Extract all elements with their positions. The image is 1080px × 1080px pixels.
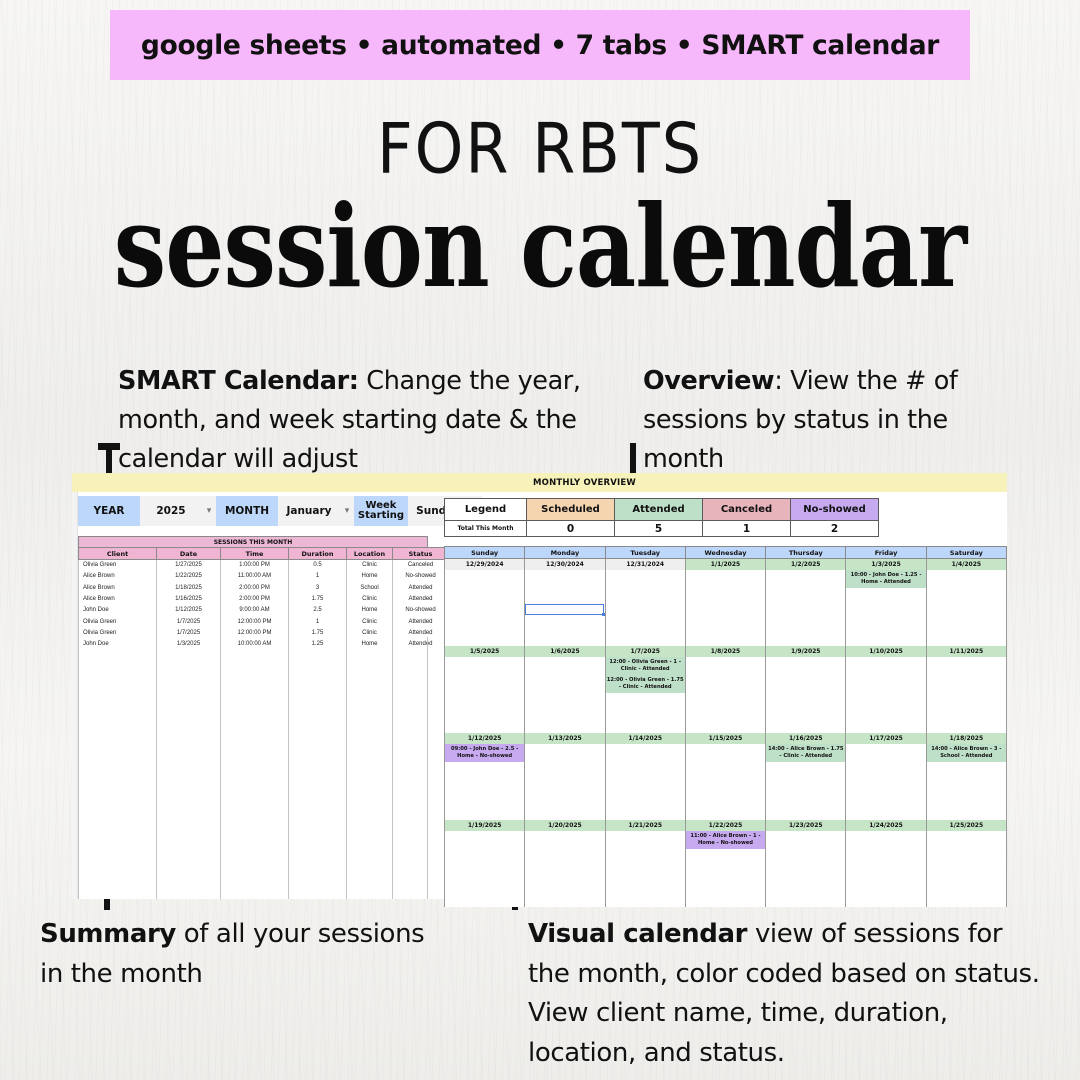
sessions-cell-client: Alice Brown: [79, 593, 157, 604]
calendar-day-cell[interactable]: 12/31/2024: [605, 559, 685, 646]
sessions-cell-status: No-showed: [393, 605, 449, 616]
sessions-cell-duration: 3: [289, 582, 347, 593]
calendar-day-cell[interactable]: 1/17/2025: [846, 733, 926, 820]
calendar-day-cell[interactable]: 1/3/202510:00 - John Doe - 1.25 - Home -…: [846, 559, 926, 646]
week-starting-label-cell: Week Starting: [354, 496, 408, 526]
calendar-day-cell[interactable]: 1/2/2025: [766, 559, 846, 646]
calendar-day-date: 1/6/2025: [525, 646, 604, 657]
calendar-day-date: 12/29/2024: [445, 559, 524, 570]
calendar-day-date: 1/21/2025: [606, 820, 685, 831]
calendar-day-date: 1/24/2025: [846, 820, 925, 831]
calendar-day-date: 1/14/2025: [606, 733, 685, 744]
calendar-day-date: 1/9/2025: [766, 646, 845, 657]
legend-status-scheduled: Scheduled: [527, 499, 615, 521]
calendar-day-date: 12/31/2024: [606, 559, 685, 570]
calendar-day-date: 1/15/2025: [686, 733, 765, 744]
calendar-day-header-saturday: Saturday: [926, 547, 1006, 559]
annotation-visual-bold: Visual calendar: [528, 919, 747, 949]
calendar-day-cell[interactable]: 1/5/2025: [445, 646, 525, 733]
calendar-day-cell[interactable]: 12/29/2024: [445, 559, 525, 646]
sessions-cell-time: 2:00:00 PM: [221, 582, 289, 593]
month-label-cell: MONTH: [216, 496, 278, 526]
legend-total-scheduled: 0: [527, 521, 615, 537]
calendar-week-row: 1/5/20251/6/20251/7/202512:00 - Olivia G…: [445, 646, 1007, 733]
calendar-day-cell[interactable]: 1/16/202514:00 - Alice Brown - 1.75 - Cl…: [766, 733, 846, 820]
annotation-smart-calendar: SMART Calendar: Change the year, month, …: [118, 362, 638, 478]
sessions-cell-date: 1/22/2025: [157, 571, 221, 582]
sessions-table-row: Olivia Green1/7/202512:00:00 PM1ClinicAt…: [79, 616, 449, 627]
sessions-cell-status: Attended: [393, 582, 449, 593]
calendar-day-cell[interactable]: 1/6/2025: [525, 646, 605, 733]
sessions-cell-time: 9:00:00 AM: [221, 605, 289, 616]
calendar-week-row: 1/12/202509:00 - John Doe - 2.5 - Home -…: [445, 733, 1007, 820]
calendar-day-date: 1/7/2025: [606, 646, 685, 657]
sessions-cell-time: 12:00:00 PM: [221, 616, 289, 627]
sessions-col-header-location: Location: [347, 548, 393, 560]
calendar-day-date: 1/17/2025: [846, 733, 925, 744]
selected-cell-outline[interactable]: [525, 604, 604, 615]
legend-total-canceled: 1: [703, 521, 791, 537]
legend-header-row: Legend Scheduled Attended Canceled No-sh…: [445, 499, 879, 521]
annotation-summary-bold: Summary: [40, 919, 176, 949]
spreadsheet-screenshot: MONTHLY OVERVIEW YEAR 2025 ▾ MONTH Janua…: [72, 473, 1007, 899]
calendar-day-date: 1/5/2025: [445, 646, 524, 657]
legend-total-noshowed: 2: [791, 521, 879, 537]
sessions-cell-date: 1/27/2025: [157, 560, 221, 571]
calendar-day-cell[interactable]: 1/22/202511:00 - Alice Brown - 1 - Home …: [685, 820, 765, 907]
sessions-cell-client: Alice Brown: [79, 571, 157, 582]
annotation-overview: Overview: View the # of sessions by stat…: [643, 362, 1013, 478]
monthly-overview-label: MONTHLY OVERVIEW: [533, 478, 636, 488]
sessions-col-header-status: Status: [393, 548, 449, 560]
calendar-day-cell[interactable]: 1/21/2025: [605, 820, 685, 907]
calendar-day-header-sunday: Sunday: [445, 547, 525, 559]
calendar-day-date: 1/1/2025: [686, 559, 765, 570]
top-banner: google sheets • automated • 7 tabs • SMA…: [110, 10, 970, 80]
sessions-cell-location: Clinic: [347, 616, 393, 627]
sessions-table-title: SESSIONS THIS MONTH: [78, 536, 428, 547]
calendar-day-cell[interactable]: 1/4/2025: [926, 559, 1006, 646]
calendar-session-event[interactable]: 12:00 - Olivia Green - 1 - Clinic - Atte…: [606, 657, 685, 675]
annotation-visual-calendar: Visual calendar view of sessions for the…: [528, 915, 1048, 1073]
sessions-cell-duration: 1: [289, 571, 347, 582]
sessions-table-row: Alice Brown1/16/20252:00:00 PM1.75Clinic…: [79, 593, 449, 604]
calendar-session-event[interactable]: 11:00 - Alice Brown - 1 - Home - No-show…: [686, 831, 765, 849]
calendar-day-header-wednesday: Wednesday: [685, 547, 765, 559]
calendar-session-event[interactable]: 10:00 - John Doe - 1.25 - Home - Attende…: [846, 570, 925, 588]
sessions-cell-time: 11:00:00 AM: [221, 571, 289, 582]
calendar-session-event[interactable]: 14:00 - Alice Brown - 1.75 - Clinic - At…: [766, 744, 845, 762]
calendar-controls: YEAR 2025 ▾ MONTH January ▾ Week Startin…: [78, 496, 482, 526]
month-dropdown-arrow-icon[interactable]: ▾: [340, 496, 354, 526]
monthly-overview-band: MONTHLY OVERVIEW: [72, 473, 1007, 492]
calendar-day-cell[interactable]: 1/9/2025: [766, 646, 846, 733]
sessions-col-header-time: Time: [221, 548, 289, 560]
sessions-cell-date: 1/16/2025: [157, 593, 221, 604]
sessions-cell-client: John Doe: [79, 605, 157, 616]
sessions-cell-status: No-showed: [393, 571, 449, 582]
legend-totals-row: Total This Month 0 5 1 2: [445, 521, 879, 537]
calendar-day-date: 1/23/2025: [766, 820, 845, 831]
calendar-day-date: 1/3/2025: [846, 559, 925, 570]
sessions-table-row: Alice Brown1/22/202511:00:00 AM1HomeNo-s…: [79, 571, 449, 582]
calendar-day-date: 1/13/2025: [525, 733, 604, 744]
calendar-day-cell[interactable]: 1/25/2025: [926, 820, 1006, 907]
sessions-cell-status: Attended: [393, 593, 449, 604]
year-dropdown-arrow-icon[interactable]: ▾: [202, 496, 216, 526]
calendar-session-event[interactable]: 12:00 - Olivia Green - 1.75 - Clinic - A…: [606, 675, 685, 693]
banner-text: google sheets • automated • 7 tabs • SMA…: [141, 30, 939, 61]
sessions-cell-duration: 0.5: [289, 560, 347, 571]
sessions-col-header-client: Client: [79, 548, 157, 560]
calendar-day-header-tuesday: Tuesday: [605, 547, 685, 559]
calendar-day-cell[interactable]: 1/12/202509:00 - John Doe - 2.5 - Home -…: [445, 733, 525, 820]
calendar-day-cell[interactable]: 1/18/202514:00 - Alice Brown - 3 - Schoo…: [926, 733, 1006, 820]
sessions-cell-duration: 1: [289, 616, 347, 627]
sessions-table-row: John Doe1/12/20259:00:00 AM2.5HomeNo-sho…: [79, 605, 449, 616]
sessions-table-row: Alice Brown1/18/20252:00:00 PM3SchoolAtt…: [79, 582, 449, 593]
annotation-summary: Summary of all your sessions in the mont…: [40, 915, 440, 994]
calendar-day-date: 1/12/2025: [445, 733, 524, 744]
month-value-cell[interactable]: January: [278, 496, 340, 526]
sessions-cell-location: School: [347, 582, 393, 593]
calendar-header-row: SundayMondayTuesdayWednesdayThursdayFrid…: [445, 547, 1007, 559]
calendar-day-cell[interactable]: 1/7/202512:00 - Olivia Green - 1 - Clini…: [605, 646, 685, 733]
legend-title-cell: Legend: [445, 499, 527, 521]
sessions-cell-date: 1/12/2025: [157, 605, 221, 616]
year-label-cell: YEAR: [78, 496, 140, 526]
sessions-cell-duration: 2.5: [289, 605, 347, 616]
calendar-day-date: 1/22/2025: [686, 820, 765, 831]
visual-calendar: SundayMondayTuesdayWednesdayThursdayFrid…: [444, 546, 1007, 907]
calendar-day-date: 1/11/2025: [927, 646, 1006, 657]
calendar-day-date: 1/19/2025: [445, 820, 524, 831]
legend-total-label: Total This Month: [445, 521, 527, 537]
calendar-day-date: 1/20/2025: [525, 820, 604, 831]
legend-status-attended: Attended: [615, 499, 703, 521]
calendar-week-row: 12/29/202412/30/202412/31/20241/1/20251/…: [445, 559, 1007, 646]
calendar-day-date: 1/4/2025: [927, 559, 1006, 570]
calendar-day-cell[interactable]: 1/14/2025: [605, 733, 685, 820]
sessions-col-header-date: Date: [157, 548, 221, 560]
legend-status-noshowed: No-showed: [791, 499, 879, 521]
sessions-table-empty-area: [78, 637, 428, 899]
sessions-cell-client: Alice Brown: [79, 582, 157, 593]
calendar-day-cell[interactable]: 1/24/2025: [846, 820, 926, 907]
calendar-day-header-thursday: Thursday: [766, 547, 846, 559]
calendar-day-cell[interactable]: 1/15/2025: [685, 733, 765, 820]
calendar-session-event[interactable]: 09:00 - John Doe - 2.5 - Home - No-showe…: [445, 744, 524, 762]
calendar-day-header-monday: Monday: [525, 547, 605, 559]
calendar-day-header-friday: Friday: [846, 547, 926, 559]
sessions-cell-location: Home: [347, 571, 393, 582]
calendar-day-date: 1/10/2025: [846, 646, 925, 657]
annotation-overview-bold: Overview: [643, 366, 774, 396]
sessions-cell-status: Canceled: [393, 560, 449, 571]
calendar-day-date: 1/25/2025: [927, 820, 1006, 831]
sessions-cell-status: Attended: [393, 616, 449, 627]
sessions-cell-location: Home: [347, 605, 393, 616]
calendar-day-date: 1/18/2025: [927, 733, 1006, 744]
sessions-cell-duration: 1.75: [289, 593, 347, 604]
calendar-day-cell[interactable]: 1/1/2025: [685, 559, 765, 646]
calendar-day-cell[interactable]: 1/11/2025: [926, 646, 1006, 733]
annotation-smart-bold: SMART Calendar:: [118, 366, 359, 396]
calendar-week-row: 1/19/20251/20/20251/21/20251/22/202511:0…: [445, 820, 1007, 907]
sessions-table-row: Olivia Green1/27/20251:00:00 PM0.5Clinic…: [79, 560, 449, 571]
monthly-overview-legend: Legend Scheduled Attended Canceled No-sh…: [444, 498, 879, 537]
sessions-cell-location: Clinic: [347, 593, 393, 604]
calendar-day-cell[interactable]: 1/10/2025: [846, 646, 926, 733]
page-title: session calendar: [16, 180, 1064, 313]
calendar-day-cell[interactable]: 1/23/2025: [766, 820, 846, 907]
sessions-cell-time: 2:00:00 PM: [221, 593, 289, 604]
legend-status-canceled: Canceled: [703, 499, 791, 521]
calendar-day-date: 1/2/2025: [766, 559, 845, 570]
calendar-day-cell[interactable]: 12/30/2024: [525, 559, 605, 646]
sessions-table-header-row: ClientDateTimeDurationLocationStatus: [79, 548, 449, 560]
sessions-cell-client: Olivia Green: [79, 560, 157, 571]
sessions-cell-date: 1/7/2025: [157, 616, 221, 627]
eyebrow-heading: FOR RBTS: [0, 108, 1080, 190]
sessions-cell-client: Olivia Green: [79, 616, 157, 627]
sessions-cell-date: 1/18/2025: [157, 582, 221, 593]
year-value-cell[interactable]: 2025: [140, 496, 202, 526]
calendar-day-cell[interactable]: 1/19/2025: [445, 820, 525, 907]
sessions-cell-location: Clinic: [347, 560, 393, 571]
calendar-day-cell[interactable]: 1/13/2025: [525, 733, 605, 820]
calendar-day-date: 1/8/2025: [686, 646, 765, 657]
calendar-session-event[interactable]: 14:00 - Alice Brown - 3 - School - Atten…: [927, 744, 1006, 762]
calendar-day-date: 1/16/2025: [766, 733, 845, 744]
calendar-day-cell[interactable]: 1/8/2025: [685, 646, 765, 733]
calendar-day-cell[interactable]: 1/20/2025: [525, 820, 605, 907]
sessions-col-header-duration: Duration: [289, 548, 347, 560]
legend-total-attended: 5: [615, 521, 703, 537]
sessions-cell-time: 1:00:00 PM: [221, 560, 289, 571]
calendar-day-date: 12/30/2024: [525, 559, 604, 570]
sessions-this-month-table: SESSIONS THIS MONTH ClientDateTimeDurati…: [78, 536, 428, 650]
